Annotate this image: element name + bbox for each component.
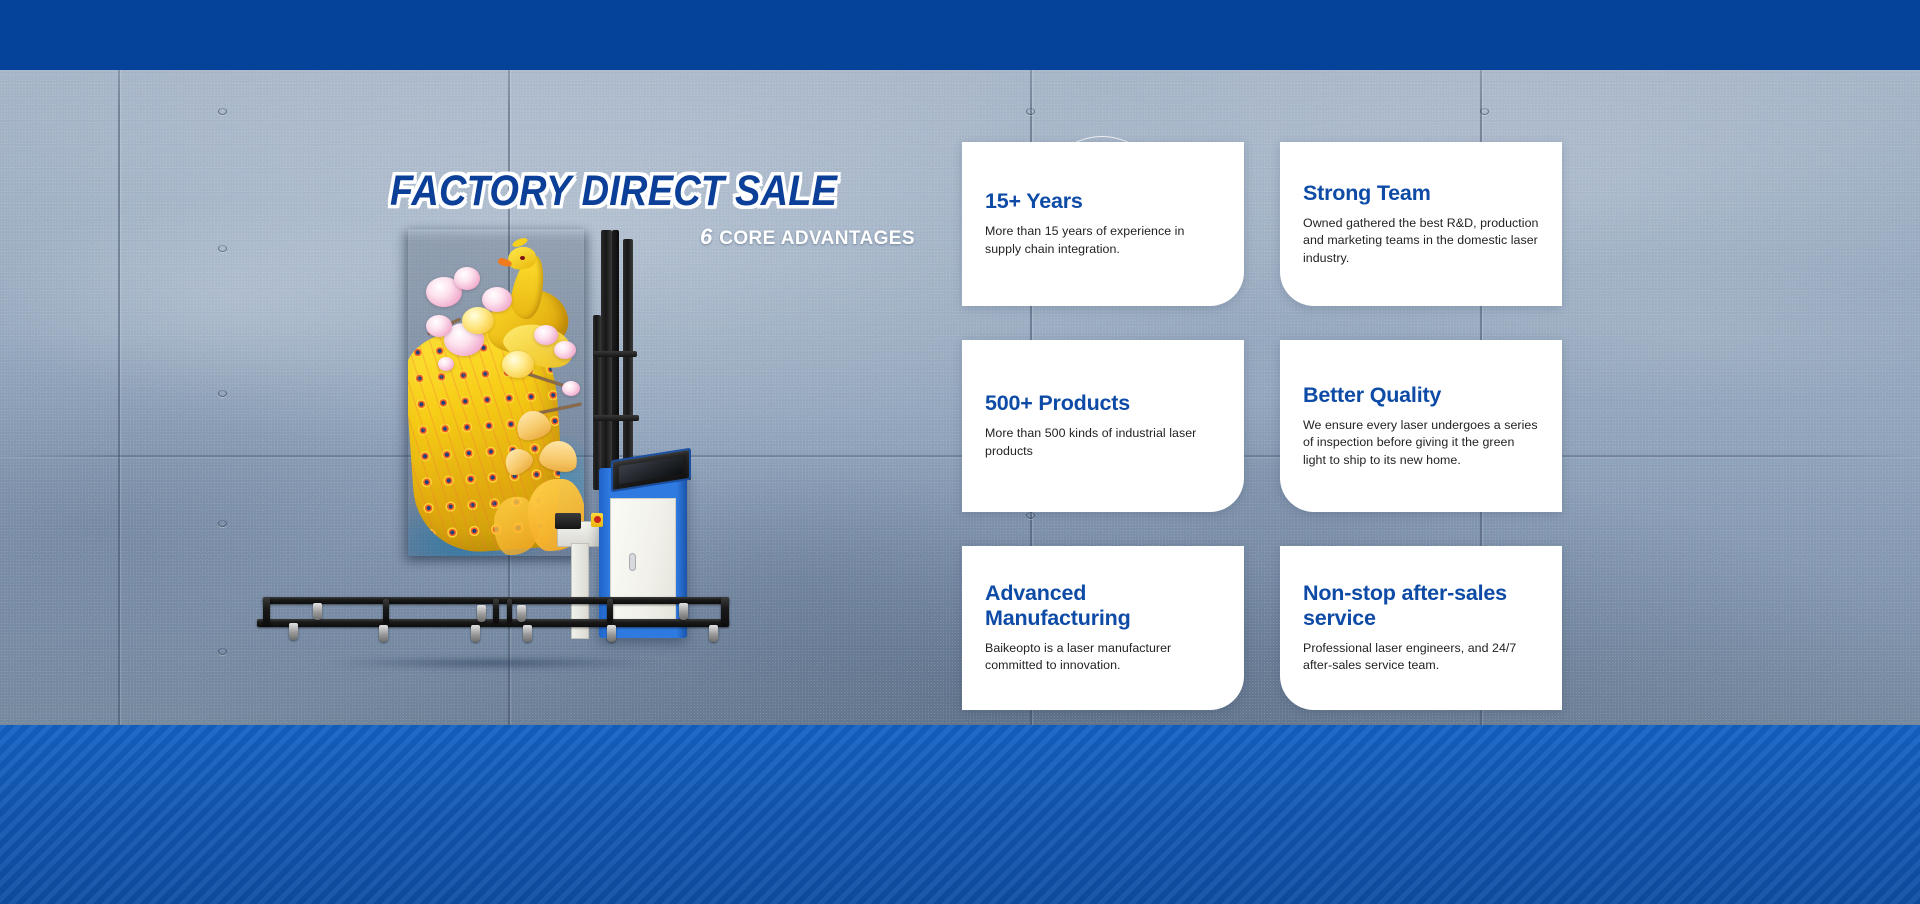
base-caster <box>379 625 388 642</box>
card-description: More than 15 years of experience in supp… <box>985 223 1221 258</box>
base-caster <box>607 625 616 642</box>
base-caster <box>477 605 486 622</box>
card-title: 500+ Products <box>985 391 1221 416</box>
card-title: 15+ Years <box>985 189 1221 214</box>
laser-print-head <box>555 513 581 529</box>
banner-stage: FACTORY DIRECT SALE 6 CORE ADVANTAGES <box>0 0 1920 904</box>
subheadline-block: 6 CORE ADVANTAGES <box>700 224 915 250</box>
base-caster <box>289 623 298 640</box>
base-crossmember <box>507 599 512 623</box>
wall-bolt-hole <box>1026 108 1035 115</box>
magnolia-flower <box>562 381 580 396</box>
gantry-crossbar <box>593 415 639 421</box>
magnolia-flower <box>454 267 480 290</box>
gantry-crossbar <box>593 351 637 357</box>
base-rail <box>263 597 270 625</box>
card-description: Professional laser engineers, and 24/7 a… <box>1303 640 1539 675</box>
core-advantages-count: 6 <box>700 224 712 250</box>
card-description: More than 500 kinds of industrial laser … <box>985 425 1221 460</box>
card-advanced-manufacturing[interactable]: Advanced Manufacturing Baikeopto is a la… <box>962 546 1244 710</box>
control-panel-screen[interactable] <box>619 456 683 484</box>
peacock-eye <box>520 256 525 260</box>
top-blue-band <box>0 0 1920 70</box>
card-better-quality[interactable]: Better Quality We ensure every laser und… <box>1280 340 1562 512</box>
base-caster <box>679 603 688 620</box>
base-crossmember <box>493 599 499 623</box>
emergency-stop-button[interactable] <box>591 513 603 527</box>
base-caster <box>523 625 532 642</box>
magnolia-flower <box>438 357 454 371</box>
advantage-cards-grid: 15+ Years More than 15 years of experien… <box>962 142 1562 676</box>
base-crossmember <box>607 599 613 623</box>
card-description: Baikeopto is a laser manufacturer commit… <box>985 640 1221 675</box>
bottom-blue-striped-band <box>0 725 1920 904</box>
headline-block: FACTORY DIRECT SALE 6 CORE ADVANTAGES <box>390 168 837 211</box>
card-title: Advanced Manufacturing <box>985 581 1221 631</box>
gantry-column <box>623 239 633 475</box>
magnolia-flower <box>462 307 494 334</box>
mural-silk-drape <box>494 497 538 555</box>
base-caster <box>313 603 322 620</box>
base-crossmember <box>383 599 389 623</box>
card-title: Strong Team <box>1303 181 1539 206</box>
card-after-sales-service[interactable]: Non-stop after-sales service Professiona… <box>1280 546 1562 710</box>
wall-bolt-hole <box>1480 108 1489 115</box>
rail-base-frame <box>255 595 735 663</box>
magnolia-flower <box>426 315 452 337</box>
wall-bolt-hole <box>218 245 227 252</box>
printed-mural-panel <box>408 229 584 556</box>
card-title: Better Quality <box>1303 383 1539 408</box>
card-description: Owned gathered the best R&D, production … <box>1303 215 1539 268</box>
magnolia-flower <box>502 351 534 378</box>
cabinet-door-handle[interactable] <box>629 553 636 571</box>
base-caster <box>709 625 718 642</box>
wall-bolt-hole <box>218 520 227 527</box>
card-500-products[interactable]: 500+ Products More than 500 kinds of ind… <box>962 340 1244 512</box>
headline-text: FACTORY DIRECT SALE <box>390 168 837 216</box>
wall-bolt-hole <box>218 648 227 655</box>
card-15-years[interactable]: 15+ Years More than 15 years of experien… <box>962 142 1244 306</box>
gantry-column <box>612 230 619 492</box>
wall-bolt-hole <box>218 108 227 115</box>
base-caster <box>517 605 526 622</box>
card-title: Non-stop after-sales service <box>1303 581 1539 631</box>
gantry-column <box>601 230 612 492</box>
base-caster <box>471 625 480 642</box>
core-advantages-label: CORE ADVANTAGES <box>719 228 915 250</box>
magnolia-flower <box>554 341 576 359</box>
magnolia-flower <box>534 325 558 345</box>
base-rail <box>721 597 729 625</box>
card-description: We ensure every laser undergoes a series… <box>1303 417 1539 470</box>
card-strong-team[interactable]: Strong Team Owned gathered the best R&D,… <box>1280 142 1562 306</box>
gantry-column <box>593 315 601 490</box>
product-photo-uv-printer <box>255 225 755 685</box>
wall-bolt-hole <box>218 390 227 397</box>
